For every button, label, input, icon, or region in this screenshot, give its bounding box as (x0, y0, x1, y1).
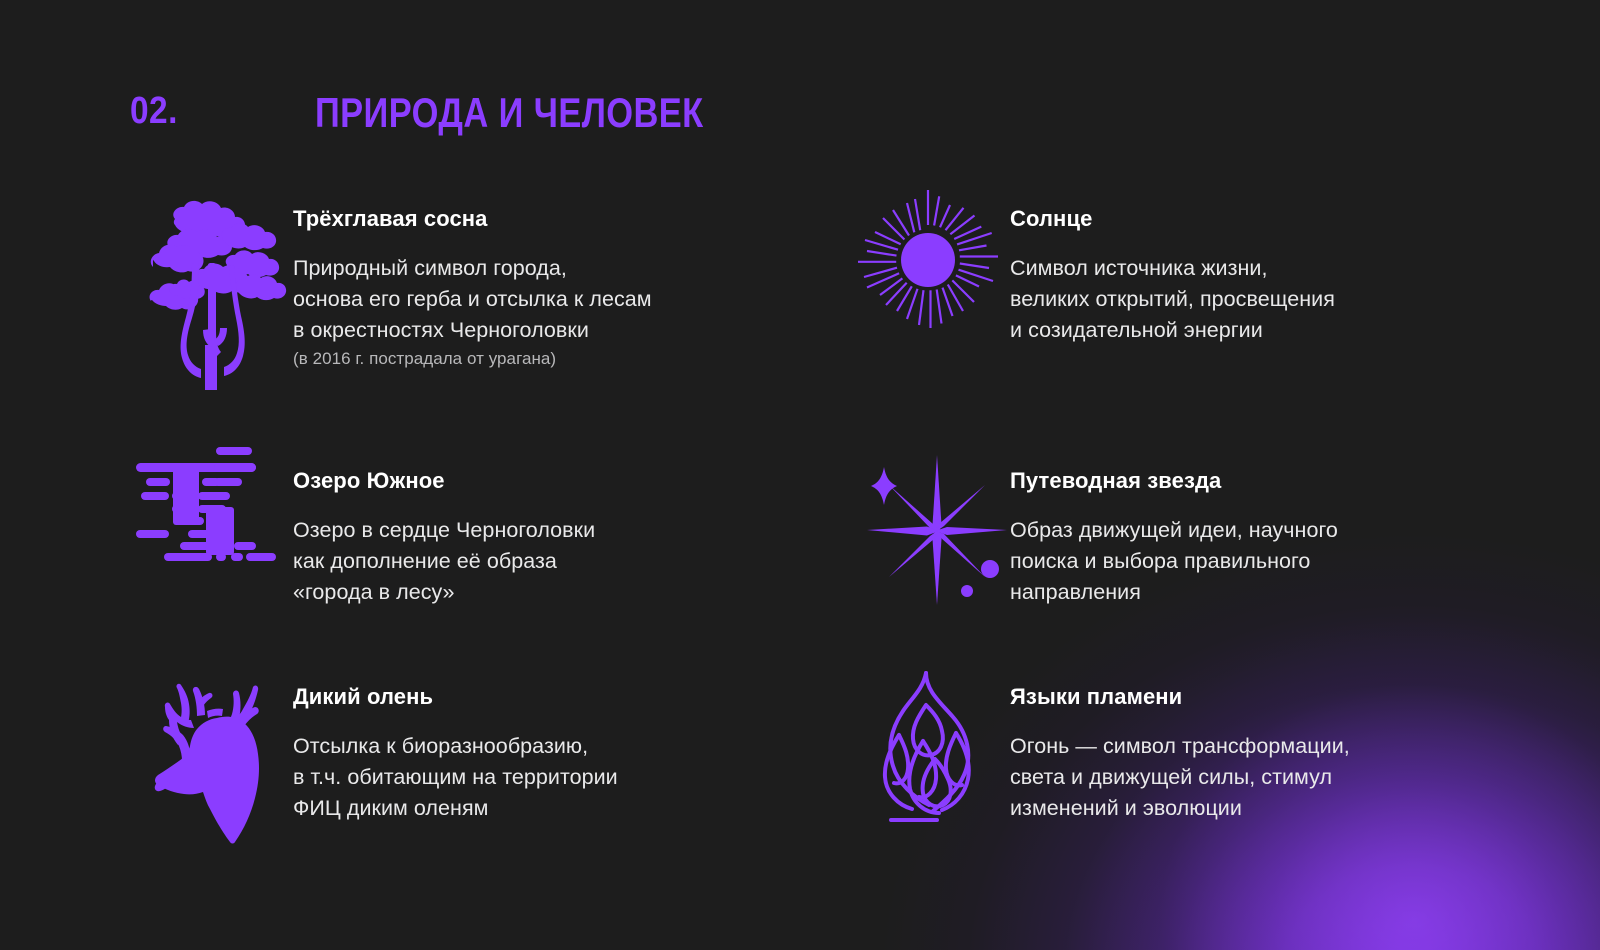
entry-description: Огонь — символ трансформации, света и дв… (1010, 731, 1350, 823)
list-item: Языки пламени Огонь — символ трансформац… (845, 663, 1350, 828)
entry-text: Дикий олень Отсылка к биоразнообразию, в… (293, 663, 618, 823)
slide-canvas: 02. ПРИРОДА И ЧЕЛОВЕК (0, 0, 1600, 950)
entry-text: Озеро Южное Озеро в сердце Черноголовки … (293, 447, 595, 607)
list-item: Солнце Символ источника жизни, великих о… (845, 185, 1335, 345)
slide-header: 02. ПРИРОДА И ЧЕЛОВЕК (130, 92, 789, 134)
entry-title: Озеро Южное (293, 469, 595, 493)
entry-text: Путеводная звезда Образ движущей идеи, н… (1010, 447, 1338, 607)
entry-title: Трёхглавая сосна (293, 207, 652, 231)
entry-description: Символ источника жизни, великих открытий… (1010, 253, 1335, 345)
entry-title: Солнце (1010, 207, 1335, 231)
pine-tree-icon (128, 185, 293, 390)
entry-text: Трёхглавая сосна Природный символ города… (293, 185, 652, 372)
section-number: 02. (130, 92, 209, 130)
entry-description: Образ движущей идеи, научного поиска и в… (1010, 515, 1338, 607)
flame-icon (845, 663, 1010, 828)
background-glow-soft (840, 350, 1600, 950)
list-item: Озеро Южное Озеро в сердце Черноголовки … (128, 447, 595, 607)
entry-text: Солнце Символ источника жизни, великих о… (1010, 185, 1335, 345)
entry-title: Дикий олень (293, 685, 618, 709)
entry-description: Отсылка к биоразнообразию, в т.ч. обитаю… (293, 731, 618, 823)
entry-description: Природный символ города, основа его герб… (293, 253, 652, 345)
entry-description: Озеро в сердце Черноголовки как дополнен… (293, 515, 595, 607)
lake-icon (128, 447, 293, 562)
guiding-star-icon (845, 447, 1010, 607)
sun-icon (845, 185, 1010, 335)
entry-note: (в 2016 г. пострадала от урагана) (293, 347, 652, 372)
entry-title: Путеводная звезда (1010, 469, 1338, 493)
deer-icon (128, 663, 293, 838)
entry-title: Языки пламени (1010, 685, 1350, 709)
page-title: ПРИРОДА И ЧЕЛОВЕК (315, 92, 704, 134)
list-item: Путеводная звезда Образ движущей идеи, н… (845, 447, 1338, 607)
entry-text: Языки пламени Огонь — символ трансформац… (1010, 663, 1350, 823)
list-item: Дикий олень Отсылка к биоразнообразию, в… (128, 663, 618, 838)
list-item: Трёхглавая сосна Природный символ города… (128, 185, 652, 390)
